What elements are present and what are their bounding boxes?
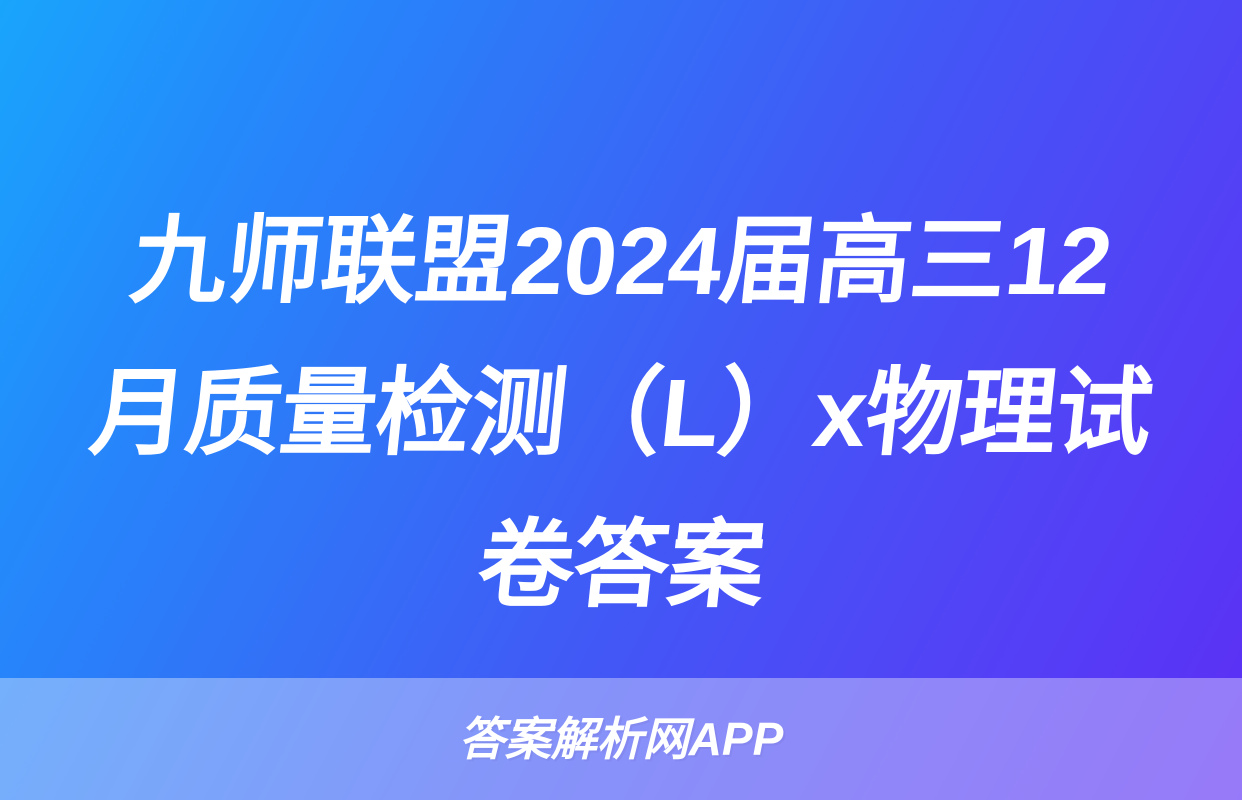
title-line-2: 月质量检测（L）x物理试 bbox=[50, 338, 1192, 490]
poster-canvas: 九师联盟2024届高三12 月质量检测（L）x物理试 卷答案 答案解析网APP bbox=[0, 0, 1242, 800]
page-title: 九师联盟2024届高三12 月质量检测（L）x物理试 卷答案 bbox=[0, 186, 1242, 642]
title-line-3: 卷答案 bbox=[50, 490, 1192, 642]
watermark-band: 答案解析网APP bbox=[0, 678, 1242, 800]
title-line-1: 九师联盟2024届高三12 bbox=[50, 186, 1192, 338]
watermark-label: 答案解析网APP bbox=[459, 714, 784, 764]
